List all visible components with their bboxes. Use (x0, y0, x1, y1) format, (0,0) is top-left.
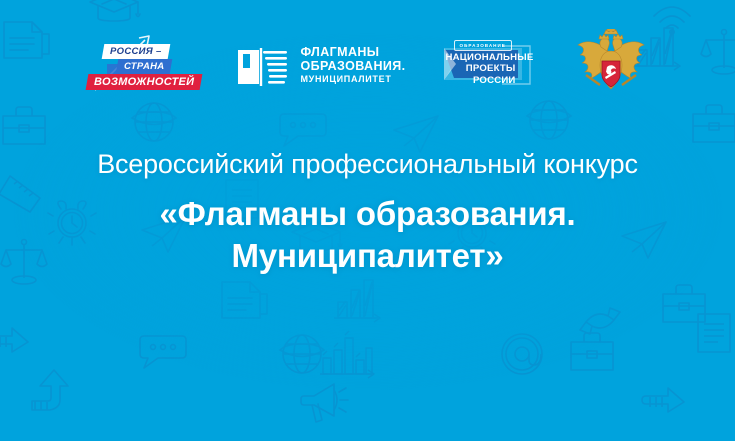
kicker-text: Всероссийский профессиональный конкурс (0, 148, 735, 180)
rsv-line-2-text: СТРАНА (124, 61, 164, 72)
logo-rossiya-strana-vozmozhnostey: РОССИЯ – СТРАНА ВОЗМОЖНОСТЕЙ (87, 34, 199, 96)
flagmany-text-block: ФЛАГМАНЫ ОБРАЗОВАНИЯ. МУНИЦИПАЛИТЕТ (300, 45, 405, 84)
rsv-line-2: СТРАНА (116, 59, 173, 74)
logo-strip: РОССИЯ – СТРАНА ВОЗМОЖНОСТЕЙ ФЛА (0, 26, 735, 104)
np-line-2: ПРОЕКТЫ (446, 63, 516, 74)
promo-banner: РОССИЯ – СТРАНА ВОЗМОЖНОСТЕЙ ФЛА (0, 0, 735, 441)
logo-natsionalnye-proekty-rossii: ОБРАЗОВАНИЕ НАЦИОНАЛЬНЫЕ ПРОЕКТЫ РОССИИ (442, 34, 538, 96)
headline-block: Всероссийский профессиональный конкурс «… (0, 148, 735, 276)
title-line-1: «Флагманы образования. (0, 193, 735, 234)
rsv-line-1: РОССИЯ – (102, 44, 170, 59)
flagmany-line-3: МУНИЦИПАЛИТЕТ (300, 74, 405, 84)
flagmany-line-1: ФЛАГМАНЫ (300, 45, 405, 59)
np-line-3: РОССИИ (446, 75, 516, 86)
title-line-2: Муниципалитет» (0, 235, 735, 276)
np-tag-obrazovanie: ОБРАЗОВАНИЕ (454, 40, 512, 51)
rsv-line-3: ВОЗМОЖНОСТЕЙ (86, 74, 203, 90)
logo-flagmany-obrazovaniya: ФЛАГМАНЫ ОБРАЗОВАНИЯ. МУНИЦИПАЛИТЕТ (235, 36, 405, 94)
rsv-line-3-text: ВОЗМОЖНОСТЕЙ (94, 76, 194, 88)
flagmany-line-2: ОБРАЗОВАНИЯ. (300, 59, 405, 73)
open-book-icon (235, 42, 291, 88)
np-line-1: НАЦИОНАЛЬНЫЕ (446, 52, 516, 63)
rsv-line-1-text: РОССИЯ – (110, 46, 162, 57)
coat-of-arms-icon (574, 29, 648, 101)
np-main-text: НАЦИОНАЛЬНЫЕ ПРОЕКТЫ РОССИИ (446, 52, 520, 86)
